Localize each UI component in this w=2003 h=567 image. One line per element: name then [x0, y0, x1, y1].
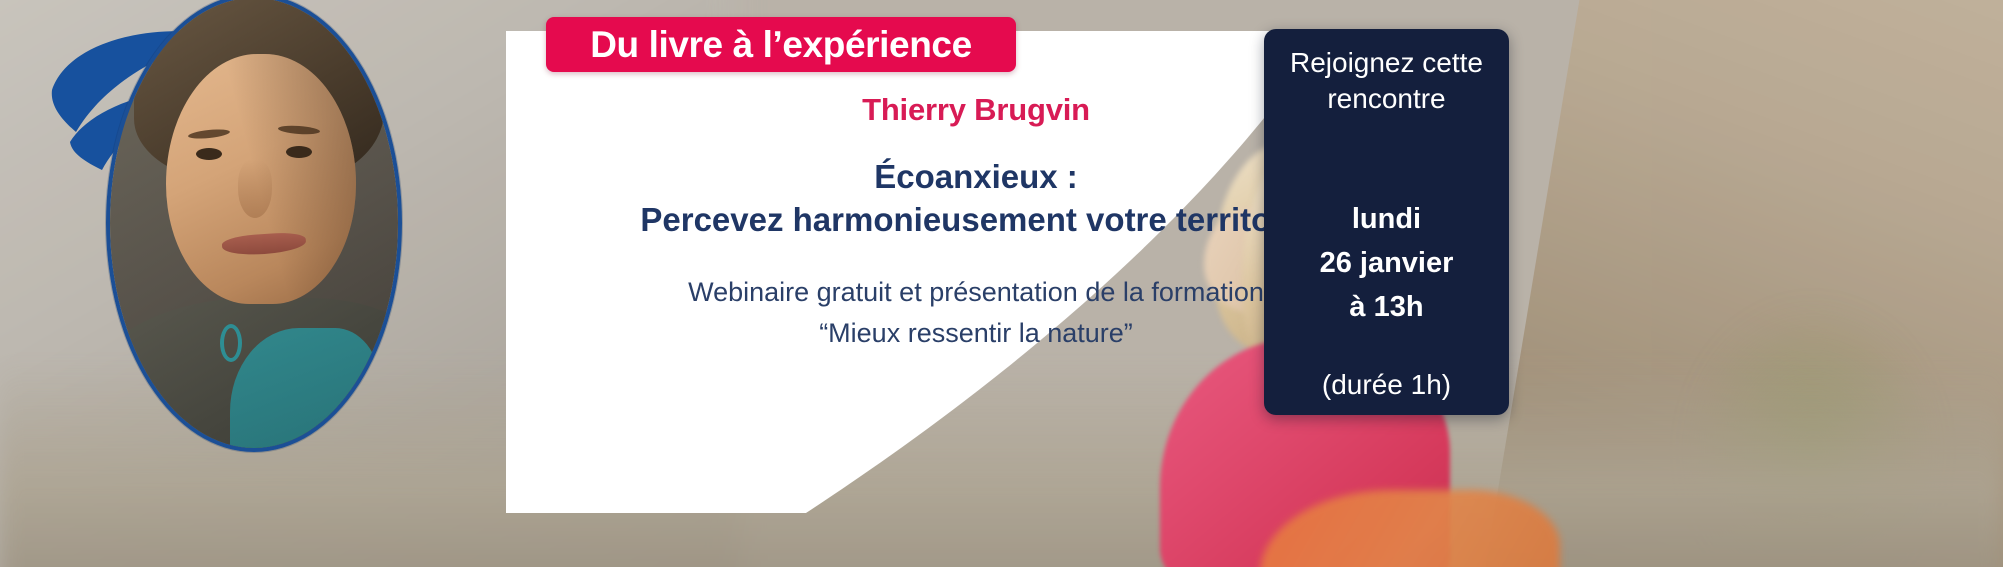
panel-time: à 13h [1264, 285, 1509, 329]
panel-heading: Rejoignez cette rencontre [1264, 45, 1509, 117]
portrait-zipper-loop [220, 324, 242, 362]
ribbon-badge: Du livre à l’expérience [546, 17, 1016, 72]
portrait-photo [110, 0, 398, 448]
portrait-nose [238, 160, 272, 218]
panel-duration: (durée 1h) [1264, 369, 1509, 401]
panel-day: lundi [1264, 197, 1509, 241]
ribbon-label: Du livre à l’expérience [590, 26, 972, 63]
promo-banner: Du livre à l’expérience Thierry Brugvin … [0, 0, 2003, 567]
portrait-eye-right [286, 146, 312, 158]
portrait-eye-left [196, 148, 222, 160]
panel-date: 26 janvier [1264, 241, 1509, 285]
event-info-panel: Rejoignez cette rencontre lundi 26 janvi… [1264, 29, 1509, 415]
panel-date-block: lundi 26 janvier à 13h [1264, 197, 1509, 329]
speaker-portrait [106, 0, 402, 452]
